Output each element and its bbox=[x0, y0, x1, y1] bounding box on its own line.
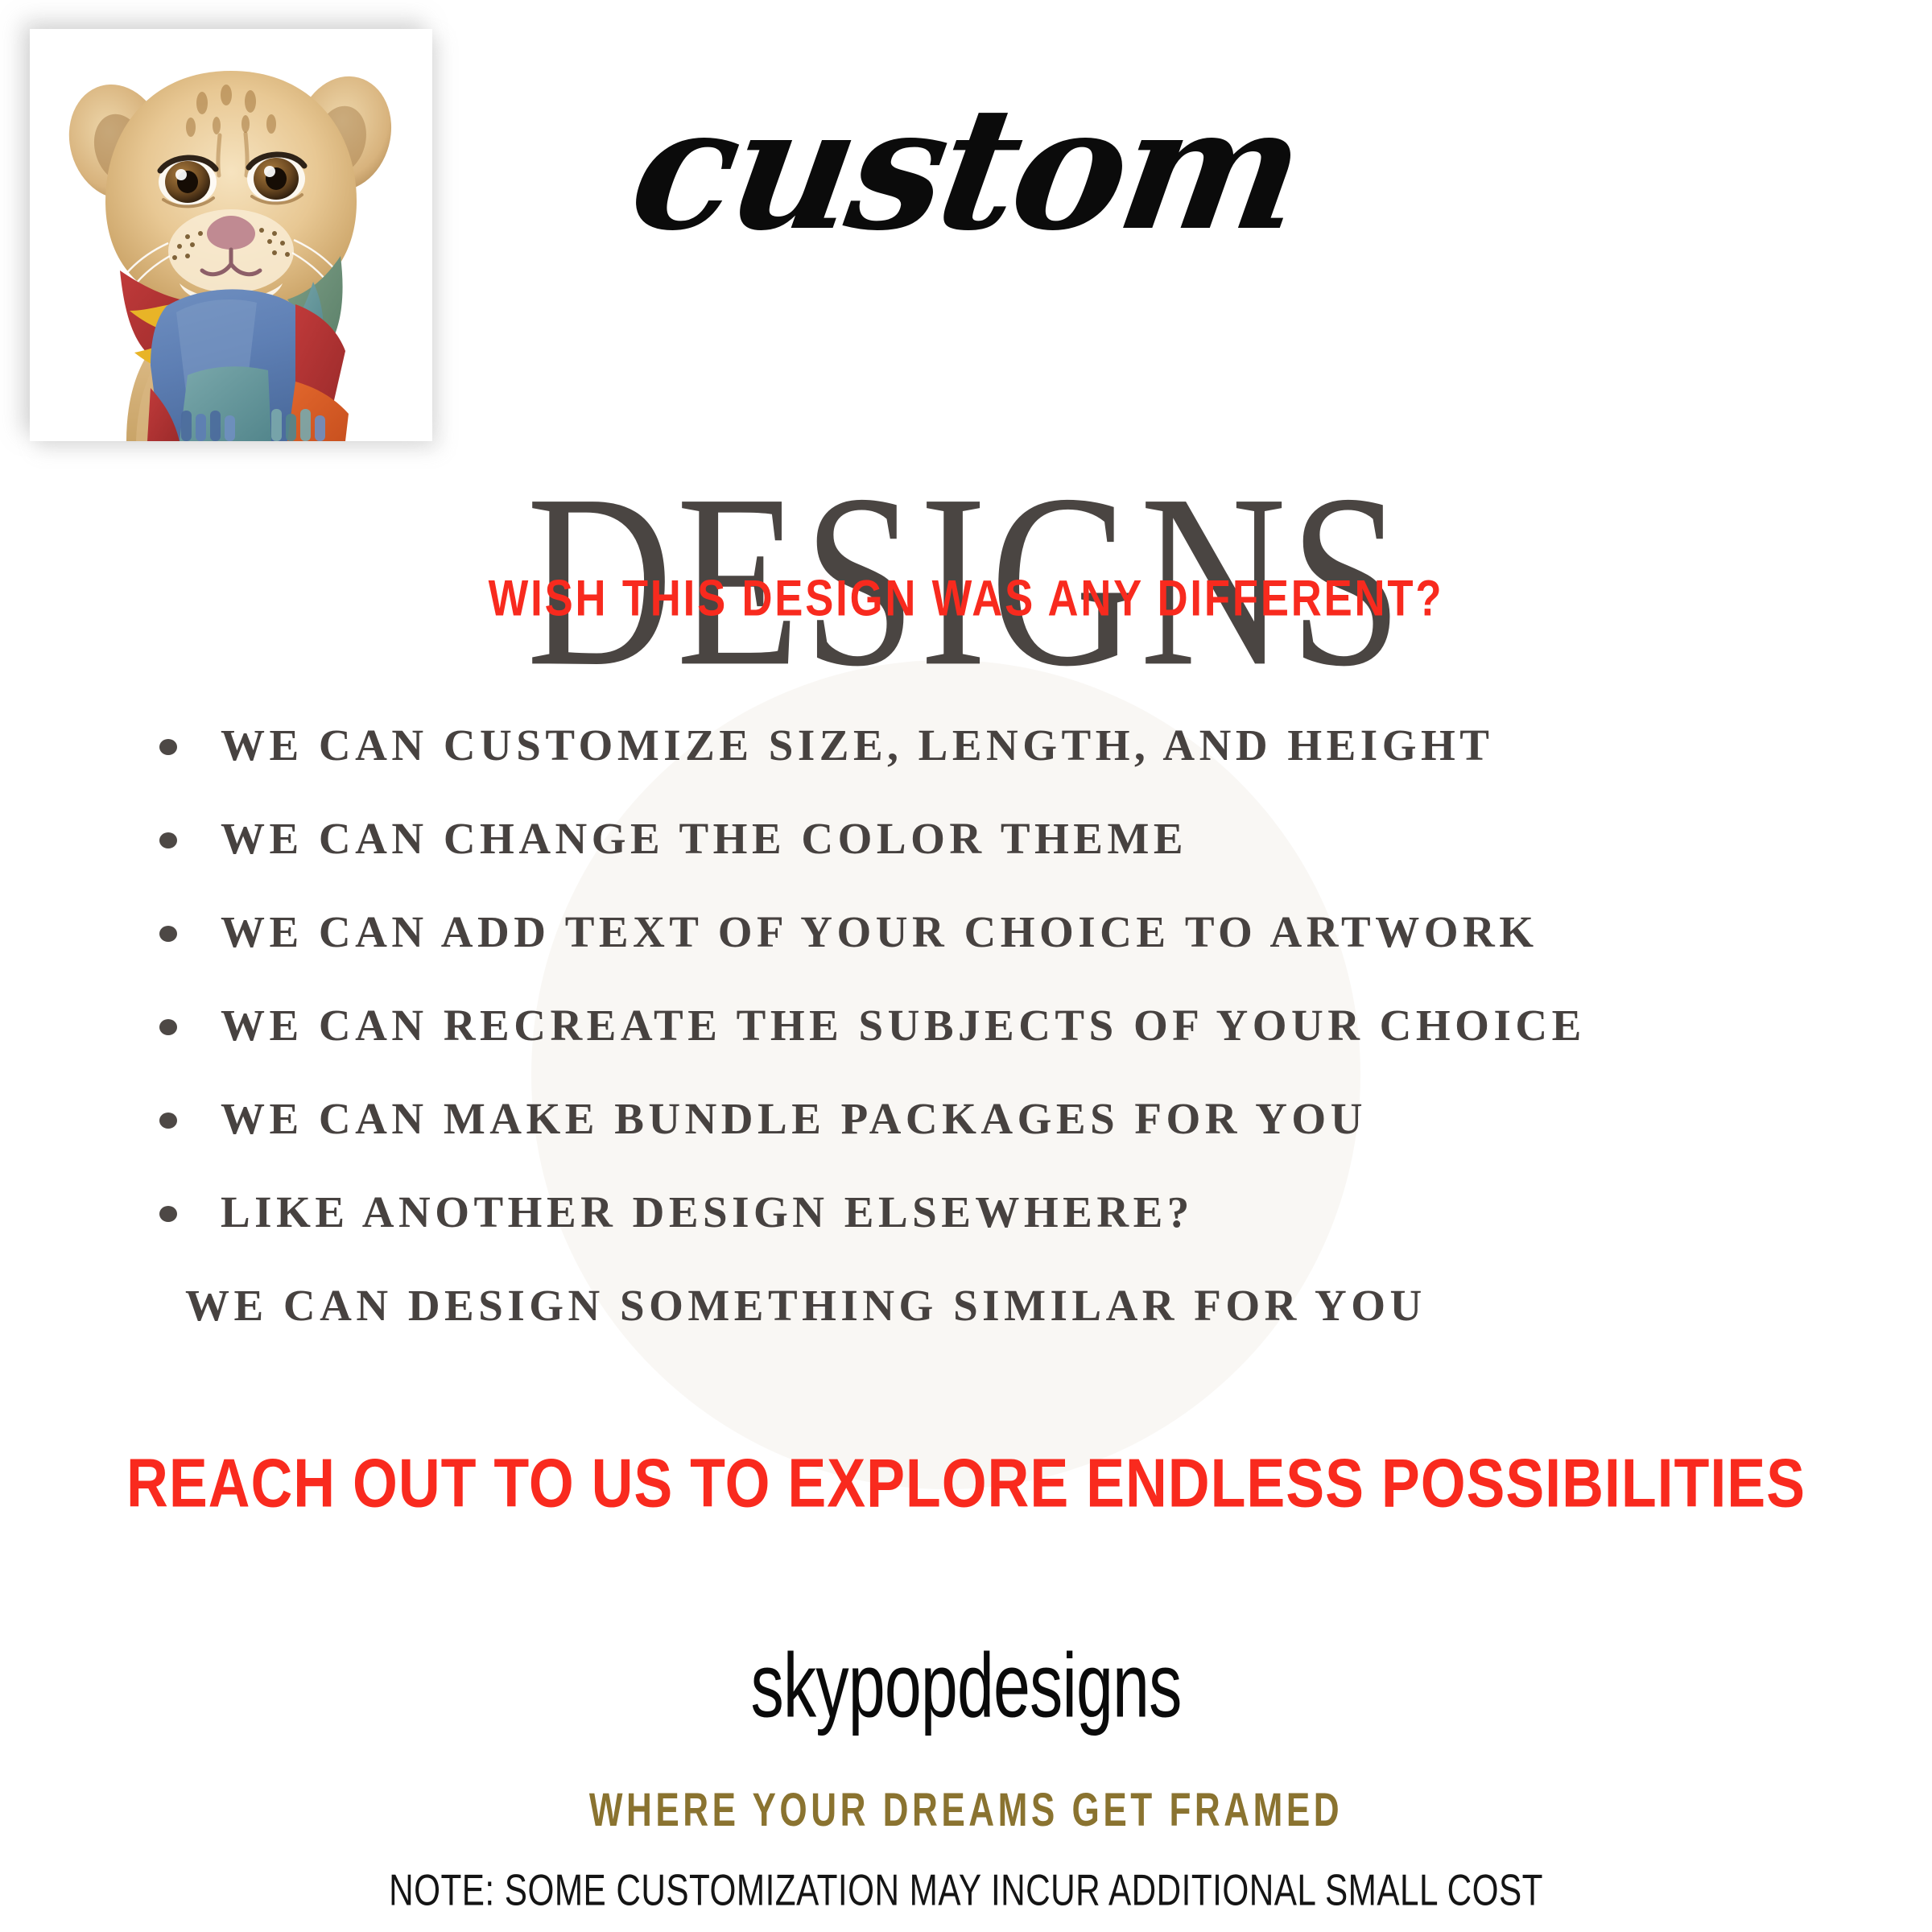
list-item: WE CAN RECREATE THE SUBJECTS OF YOUR CHO… bbox=[153, 997, 1811, 1090]
list-item-continuation: WE CAN DESIGN SOMETHING SIMILAR FOR YOU bbox=[153, 1277, 1811, 1370]
footnote-text: NOTE: SOME CUSTOMIZATION MAY INCUR ADDIT… bbox=[97, 1868, 1835, 1912]
list-item: WE CAN MAKE BUNDLE PACKAGES FOR YOU bbox=[153, 1090, 1811, 1183]
brand-logo-text: skypopdesigns bbox=[135, 1641, 1797, 1732]
list-item: LIKE ANOTHER DESIGN ELSEWHERE? bbox=[153, 1183, 1811, 1277]
subtitle-question: WISH THIS DESIGN WAS ANY DIFFERENT? bbox=[58, 573, 1874, 624]
custom-designs-poster: custom DESIGNS WISH THIS DESIGN WAS ANY … bbox=[0, 0, 1932, 1932]
list-item: WE CAN CHANGE THE COLOR THEME bbox=[153, 810, 1811, 903]
list-item: WE CAN ADD TEXT OF YOUR CHOICE TO ARTWOR… bbox=[153, 903, 1811, 997]
brand-tagline: WHERE YOUR DREAMS GET FRAMED bbox=[97, 1787, 1835, 1835]
script-headline: custom bbox=[0, 85, 1932, 254]
list-item: WE CAN CUSTOMIZE SIZE, LENGTH, AND HEIGH… bbox=[153, 716, 1811, 810]
call-to-action-text: REACH OUT TO US TO EXPLORE ENDLESS POSSI… bbox=[29, 1449, 1903, 1517]
feature-list: WE CAN CUSTOMIZE SIZE, LENGTH, AND HEIGH… bbox=[153, 716, 1811, 1370]
